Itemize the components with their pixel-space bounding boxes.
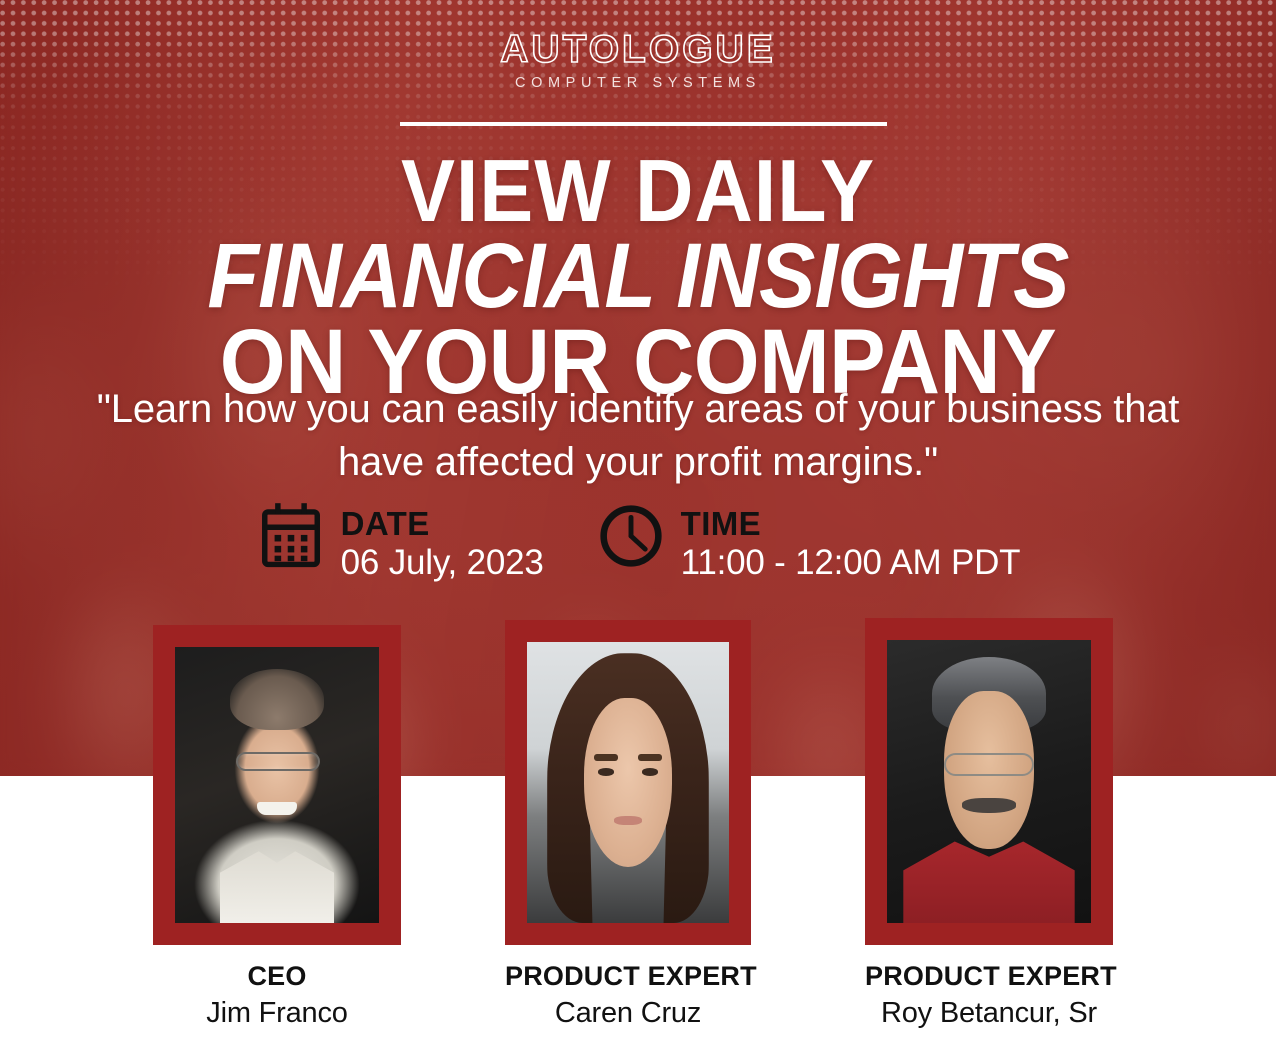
avatar xyxy=(527,642,729,923)
webinar-promo-poster: AUTOLOGUE COMPUTER SYSTEMS VIEW DAILY FI… xyxy=(0,0,1276,1038)
speaker-photo-frame xyxy=(865,618,1113,945)
event-date-label: DATE xyxy=(341,506,544,542)
speaker-name: Jim Franco xyxy=(153,996,401,1031)
clock-icon xyxy=(596,500,666,572)
speaker-photo-frame xyxy=(153,625,401,945)
speaker-card: PRODUCT EXPERT Caren Cruz xyxy=(505,620,751,1031)
page-title: VIEW DAILY FINANCIAL INSIGHTS ON YOUR CO… xyxy=(0,150,1276,406)
event-date-value: 06 July, 2023 xyxy=(341,542,544,584)
headline-line-2: FINANCIAL INSIGHTS xyxy=(51,233,1225,319)
speaker-role: PRODUCT EXPERT xyxy=(865,961,1113,993)
headline-line-1: VIEW DAILY xyxy=(51,150,1225,233)
brand-logo-tagline: COMPUTER SYSTEMS xyxy=(0,76,1276,91)
event-time-text: TIME 11:00 - 12:00 AM PDT xyxy=(681,500,1021,584)
speaker-photo-frame xyxy=(505,620,751,945)
speaker-role: CEO xyxy=(153,961,401,993)
speaker-card: CEO Jim Franco xyxy=(153,625,401,1031)
avatar xyxy=(887,640,1091,923)
avatar xyxy=(175,647,379,923)
speakers-row: CEO Jim Franco PRODUCT EXPERT Caren Cruz xyxy=(0,618,1276,1038)
calendar-icon xyxy=(256,500,326,572)
brand-logo: AUTOLOGUE COMPUTER SYSTEMS xyxy=(0,30,1276,91)
subtitle-quote: "Learn how you can easily identify areas… xyxy=(50,383,1226,489)
brand-logo-wordmark: AUTOLOGUE xyxy=(0,30,1276,69)
speaker-name: Caren Cruz xyxy=(505,996,751,1031)
speaker-role: PRODUCT EXPERT xyxy=(505,961,751,993)
event-time-value: 11:00 - 12:00 AM PDT xyxy=(681,542,1021,584)
event-details-row: DATE 06 July, 2023 TIME 11:00 - 12:00 AM… xyxy=(0,500,1276,584)
speaker-name: Roy Betancur, Sr xyxy=(865,996,1113,1031)
logo-divider-rule xyxy=(400,122,887,126)
event-date-text: DATE 06 July, 2023 xyxy=(341,500,544,584)
event-time: TIME 11:00 - 12:00 AM PDT xyxy=(596,500,1021,584)
event-time-label: TIME xyxy=(681,506,1021,542)
event-date: DATE 06 July, 2023 xyxy=(256,500,544,584)
speaker-card: PRODUCT EXPERT Roy Betancur, Sr xyxy=(865,618,1113,1031)
